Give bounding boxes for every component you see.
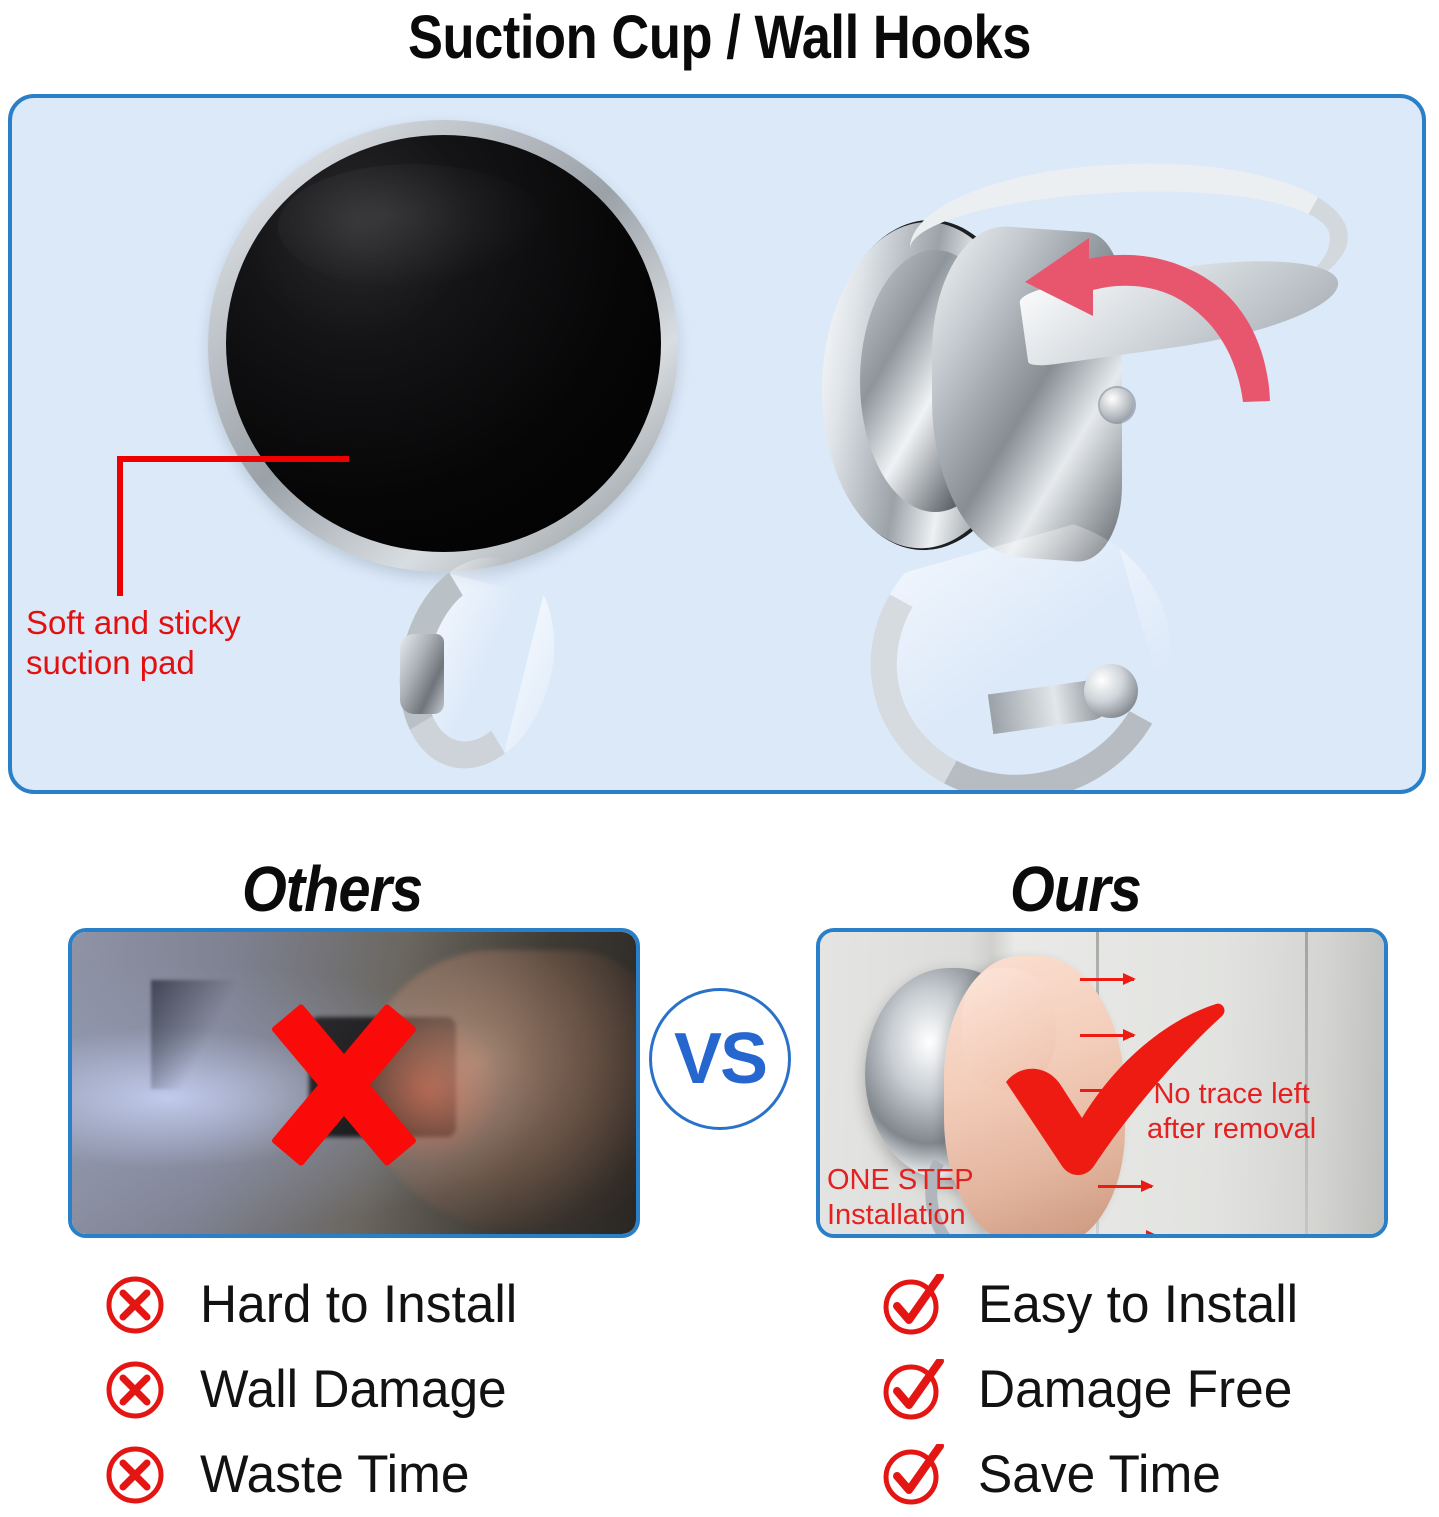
no-trace-line-2: after removal xyxy=(1147,1112,1316,1147)
vs-badge: VS xyxy=(649,988,791,1130)
list-item-label: Hard to Install xyxy=(200,1274,517,1335)
ours-bullet-list: Easy to Install Damage Free Save Time xyxy=(882,1262,1308,1517)
hook-curve xyxy=(870,518,1180,768)
list-item-label: Easy to Install xyxy=(978,1274,1298,1335)
list-item-label: Save Time xyxy=(978,1444,1221,1505)
list-item: Hard to Install xyxy=(104,1262,527,1347)
list-item: Waste Time xyxy=(104,1432,527,1517)
big-red-x-icon xyxy=(238,995,450,1175)
hook-curve-shape xyxy=(837,482,1205,794)
others-heading: Others xyxy=(242,852,422,926)
hook-knob xyxy=(400,634,444,714)
others-bullet-list: Hard to Install Wall Damage Waste Time xyxy=(104,1262,527,1517)
suction-pad-callout: Soft and sticky suction pad xyxy=(26,603,326,684)
circled-check-icon xyxy=(882,1359,944,1421)
no-trace-line-1: No trace left xyxy=(1147,1077,1316,1112)
no-trace-note: No trace left after removal xyxy=(1147,1077,1316,1147)
list-item: Save Time xyxy=(882,1432,1308,1517)
pad-gloss-highlight xyxy=(278,164,548,289)
circled-x-icon xyxy=(104,1274,166,1336)
page-title: Suction Cup / Wall Hooks xyxy=(101,2,1339,72)
leader-line-horizontal xyxy=(117,456,349,462)
hook-ball-end xyxy=(1084,664,1138,718)
chrome-hook-front xyxy=(394,556,506,742)
list-item: Damage Free xyxy=(882,1347,1308,1432)
list-item-label: Wall Damage xyxy=(200,1359,507,1420)
circled-check-icon xyxy=(882,1274,944,1336)
callout-line-1: Soft and sticky xyxy=(26,603,326,643)
one-step-line-2: Installation xyxy=(827,1198,974,1233)
arrow-right-icon-1 xyxy=(1080,978,1134,981)
one-step-note: ONE STEP Installation xyxy=(827,1163,974,1233)
callout-leader-line xyxy=(117,456,349,596)
vs-label: VS xyxy=(674,1023,766,1095)
circled-x-icon xyxy=(104,1359,166,1421)
list-item-label: Waste Time xyxy=(200,1444,469,1505)
arrow-right-icon-4 xyxy=(1098,1185,1152,1188)
hero-panel: Soft and sticky suction pad xyxy=(8,94,1426,794)
circled-x-icon xyxy=(104,1444,166,1506)
one-step-line-1: ONE STEP xyxy=(827,1163,974,1198)
leader-line-vertical xyxy=(117,456,123,596)
ours-heading: Ours xyxy=(1010,852,1141,926)
callout-line-2: suction pad xyxy=(26,643,326,683)
list-item: Wall Damage xyxy=(104,1347,527,1432)
curved-arrow-left-icon xyxy=(1015,226,1287,406)
arrow-right-icon-5 xyxy=(1103,1235,1157,1238)
list-item-label: Damage Free xyxy=(978,1359,1292,1420)
circled-check-icon xyxy=(882,1444,944,1506)
list-item: Easy to Install xyxy=(882,1262,1308,1347)
